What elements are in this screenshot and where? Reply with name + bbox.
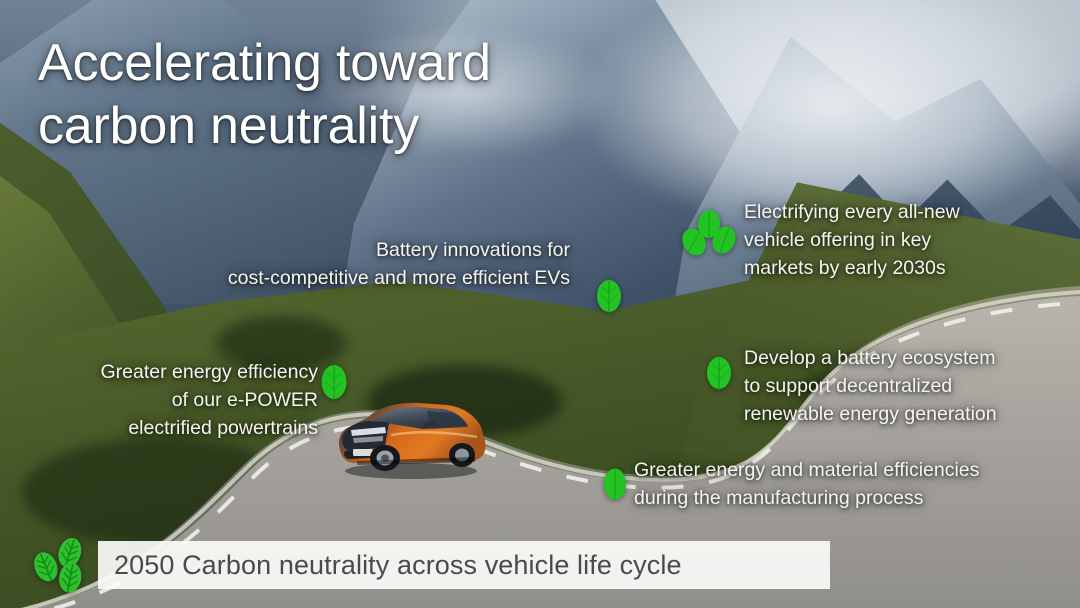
leaf-icon <box>704 354 734 392</box>
slide-canvas: Accelerating toward carbon neutrality <box>0 0 1080 608</box>
leaf-icon <box>601 466 629 502</box>
callout-electrifying: Electrifying every all-new vehicle offer… <box>744 198 1044 282</box>
leaf-cluster-icon <box>676 206 740 264</box>
banner-label: 2050 Carbon neutrality across vehicle li… <box>98 550 682 581</box>
callout-battery-ecosystem: Develop a battery ecosystem to support d… <box>744 344 1064 428</box>
leaf-icon <box>594 277 624 315</box>
page-title: Accelerating toward carbon neutrality <box>38 32 491 159</box>
leaf-cluster-icon <box>30 531 100 595</box>
callout-manufacturing: Greater energy and material efficiencies… <box>634 456 1054 512</box>
callout-battery-innovations: Battery innovations for cost-competitive… <box>150 236 570 292</box>
carbon-neutrality-banner: 2050 Carbon neutrality across vehicle li… <box>98 541 830 589</box>
leaf-icon <box>318 362 350 402</box>
callout-e-power: Greater energy efficiency of our e-POWER… <box>38 358 318 442</box>
vehicle-suv <box>327 391 493 481</box>
